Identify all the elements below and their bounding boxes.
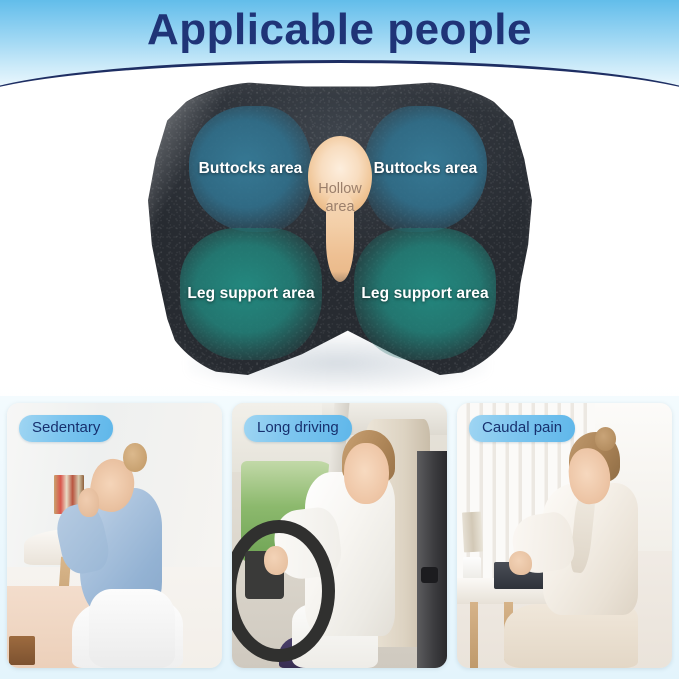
zone-label-hollow: Hollow area (308, 180, 372, 216)
infographic-page: Applicable people Buttocks area Buttocks… (0, 0, 679, 679)
photo-door-handle (421, 567, 438, 583)
badge-long-driving: Long driving (244, 415, 352, 442)
zone-leg-support-right: Leg support area (354, 228, 496, 360)
zone-label-leg-left: Leg support area (187, 285, 314, 303)
photo-woman-at-office-desk (457, 403, 672, 668)
photo-person-hand (264, 546, 288, 575)
photo-person-hair-bun (123, 443, 147, 472)
badge-caudal-pain: Caudal pain (469, 415, 575, 442)
photo-desk-box (9, 636, 35, 665)
photo-desk-leg-left (470, 602, 479, 668)
photo-person-hand (509, 551, 533, 575)
photo-person-hair-bun (595, 427, 617, 451)
photo-person-hand (78, 488, 100, 517)
photo-sedentary-woman-at-desk (7, 403, 222, 668)
photo-person-head (344, 443, 389, 504)
photo-car-door (417, 451, 447, 668)
zone-buttocks-right: Buttocks area (364, 106, 487, 232)
zone-label-buttocks-right: Buttocks area (374, 160, 478, 178)
photo-books (462, 511, 483, 552)
zone-label-buttocks-left: Buttocks area (199, 160, 303, 178)
use-case-card-caudal-pain[interactable]: Caudal pain (457, 403, 672, 668)
use-case-card-long-driving[interactable]: Long driving (232, 403, 447, 668)
use-case-card-sedentary[interactable]: Sedentary (7, 403, 222, 668)
photo-woman-driving-car (232, 403, 447, 668)
photo-person-skirt (89, 589, 175, 669)
zone-hollow-area: Hollow area (308, 136, 372, 282)
zone-leg-support-left: Leg support area (180, 228, 322, 360)
seat-cushion-product: Buttocks area Buttocks area Leg support … (148, 82, 532, 400)
zone-label-leg-right: Leg support area (361, 285, 488, 303)
use-case-cards-strip: Sedentary Long drivi (0, 396, 679, 679)
zone-buttocks-left: Buttocks area (189, 106, 312, 232)
page-title: Applicable people (0, 2, 679, 58)
badge-sedentary: Sedentary (19, 415, 113, 442)
